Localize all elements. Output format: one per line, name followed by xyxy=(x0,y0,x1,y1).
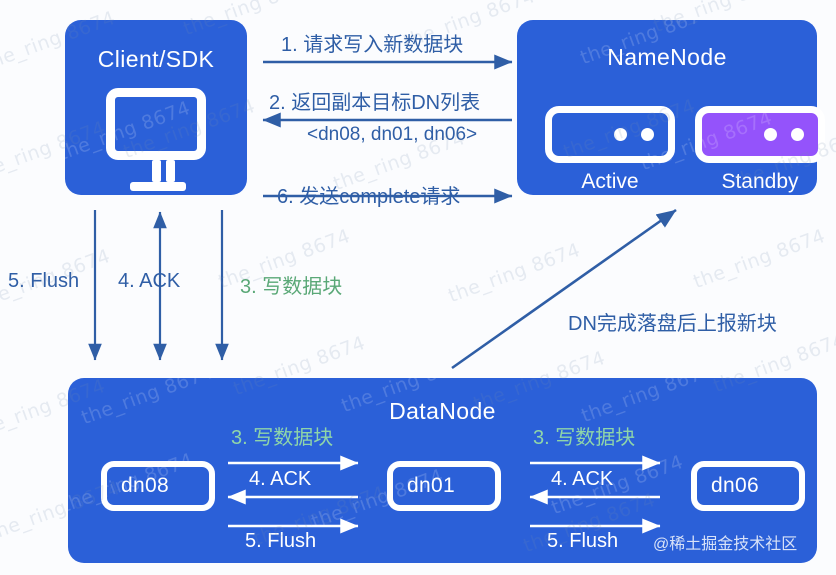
label-step1: 1. 请求写入新数据块 xyxy=(281,28,463,57)
label-pipeline-write-dn08-dn01: 3. 写数据块 xyxy=(231,421,333,450)
label-pipeline-ack-dn01-dn06: 4. ACK xyxy=(551,468,613,491)
label-step2: 2. 返回副本目标DN列表 xyxy=(269,86,480,115)
label-step2-sublabel: <dn08, dn01, dn06> xyxy=(307,124,477,146)
diagram-canvas: the_ring 8674 the_ring 8674 the_ring 867… xyxy=(0,0,836,575)
label-ack-client: 4. ACK xyxy=(118,270,180,293)
label-flush-client: 5. Flush xyxy=(8,270,79,293)
label-write-client: 3. 写数据块 xyxy=(240,270,342,299)
label-step6: 6. 发送complete请求 xyxy=(277,180,460,209)
arrow-report-new-block xyxy=(452,210,676,368)
label-pipeline-flush-dn08-dn01: 5. Flush xyxy=(245,530,316,553)
label-pipeline-write-dn01-dn06: 3. 写数据块 xyxy=(533,421,635,450)
label-pipeline-ack-dn08-dn01: 4. ACK xyxy=(249,468,311,491)
label-pipeline-flush-dn01-dn06: 5. Flush xyxy=(547,530,618,553)
label-report-new-block: DN完成落盘后上报新块 xyxy=(568,307,777,336)
